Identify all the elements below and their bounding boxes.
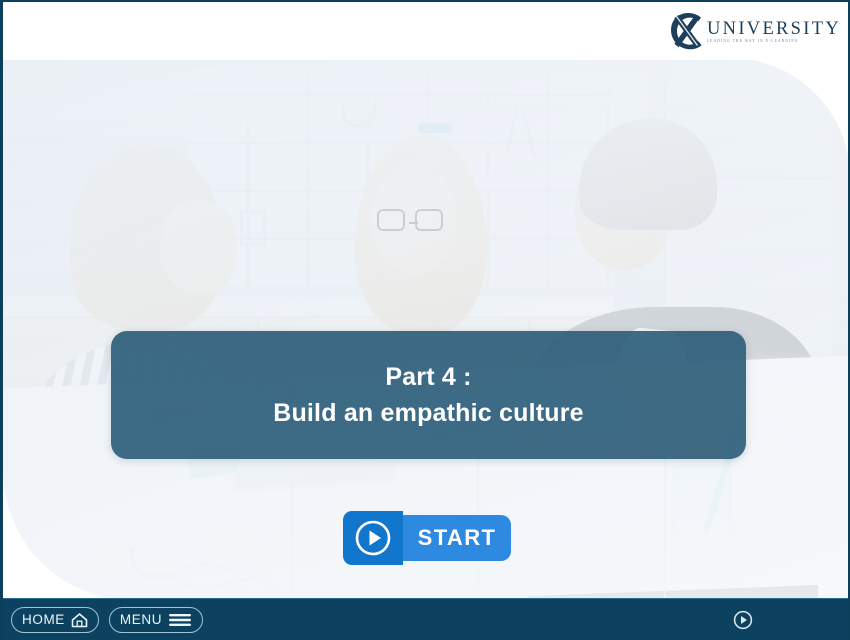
home-icon (71, 612, 88, 628)
slide-title-part: Part 4 : (385, 359, 471, 395)
course-slide: UNIVERSITY LEADING THE WAY IN E-LEARNING (0, 0, 850, 640)
start-icon-container[interactable] (343, 511, 403, 565)
slide-title-card: Part 4 : Build an empathic culture (111, 331, 746, 459)
menu-button-label: MENU (120, 612, 162, 627)
logo-tagline: LEADING THE WAY IN E-LEARNING (707, 40, 841, 44)
hero-banner: Part 4 : Build an empathic culture START (3, 58, 850, 600)
home-button[interactable]: HOME (11, 607, 99, 633)
menu-button[interactable]: MENU (109, 607, 203, 633)
university-logo: UNIVERSITY LEADING THE WAY IN E-LEARNING (667, 11, 841, 51)
logo-text: UNIVERSITY LEADING THE WAY IN E-LEARNING (707, 18, 841, 44)
home-button-label: HOME (22, 612, 65, 627)
cx-monogram-icon (667, 11, 709, 51)
player-toolbar: HOME MENU (3, 598, 850, 640)
play-circle-icon (353, 518, 393, 558)
start-button-label: START (418, 525, 497, 551)
hamburger-icon (168, 612, 192, 628)
page-header: UNIVERSITY LEADING THE WAY IN E-LEARNING (3, 2, 850, 60)
slide-title-heading: Build an empathic culture (273, 395, 584, 431)
play-circle-icon[interactable] (733, 610, 753, 630)
logo-wordmark: UNIVERSITY (707, 20, 841, 39)
start-label-container[interactable]: START (399, 515, 511, 561)
start-button[interactable]: START (343, 511, 511, 565)
